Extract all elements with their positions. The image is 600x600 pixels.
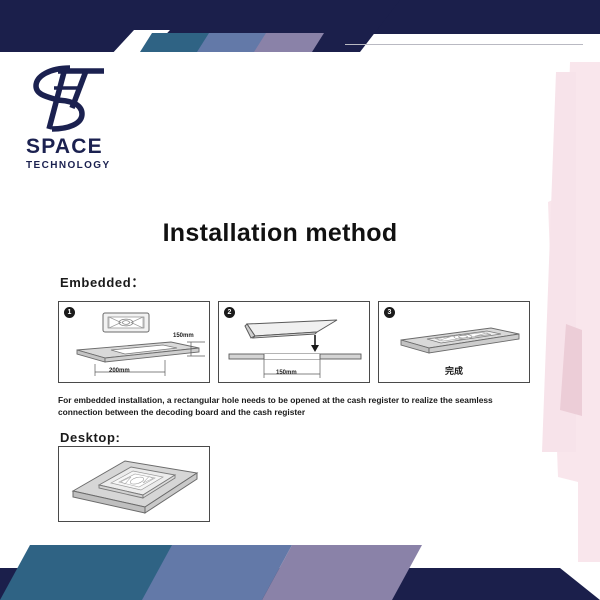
step-3-caption: 完成 [379, 364, 529, 377]
top-bar-purple [254, 33, 324, 52]
embedded-steps-row: 1 [58, 301, 530, 383]
dimension-width-1: 200mm [109, 368, 130, 374]
step-panel-1: 1 [58, 301, 210, 383]
space-technology-monogram-icon [24, 62, 110, 134]
dimension-width-2: 150mm [276, 370, 297, 376]
embedded-description: For embedded installation, a rectangular… [58, 394, 526, 418]
slide-page: SPACE TECHNOLOGY Installation method Emb… [0, 0, 600, 600]
step-panel-3: 3 完成 [378, 301, 530, 383]
step-1-illustration [59, 302, 211, 384]
desktop-illustration-panel [58, 446, 210, 522]
top-horizontal-rule [345, 44, 583, 45]
section-label-desktop: Desktop: [60, 430, 120, 445]
section-label-embedded: Embedded： [60, 272, 145, 291]
dimension-depth-1: 150mm [173, 333, 194, 339]
brand-logo: SPACE TECHNOLOGY [24, 62, 144, 171]
page-title: Installation method [0, 219, 560, 248]
step-panel-2: 2 [218, 301, 370, 383]
brand-tagline: TECHNOLOGY [24, 161, 144, 171]
brand-name: SPACE [24, 136, 144, 157]
desktop-illustration [59, 447, 211, 523]
